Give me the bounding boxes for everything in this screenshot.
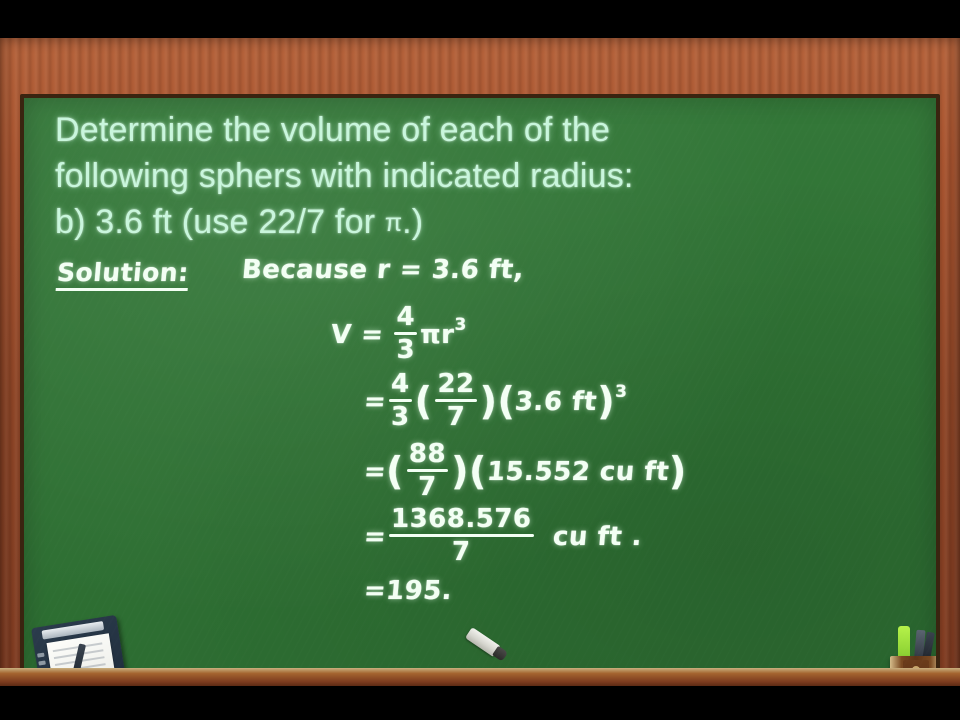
final-answer-partial: 195. xyxy=(385,576,454,606)
solution-given-line: Because r = 3.6 ft, xyxy=(242,255,524,285)
unit-label: cu ft . xyxy=(551,522,643,552)
question-line-3-part-b: .) xyxy=(402,203,423,241)
fraction-four-thirds: 43 xyxy=(389,371,412,430)
chalk-tray-ledge xyxy=(0,668,960,686)
letterbox-bottom-bar xyxy=(0,686,960,720)
radius-value: 3.6 ft xyxy=(514,387,598,417)
solution-step-2: =43(227)(3.6 ft)3 xyxy=(364,373,627,432)
chalkboard-surface: Determine the volume of each of the foll… xyxy=(24,98,936,706)
exponent-three: 3 xyxy=(454,315,466,335)
question-line-3: b) 3.6 ft (use 22/7 for π.) xyxy=(55,199,895,248)
pi-symbol-icon: π xyxy=(385,209,402,237)
solution-label: Solution: xyxy=(57,258,189,291)
fraction-result: 1368.5767 xyxy=(389,506,534,565)
solution-step-3: =(887)(15.552 cu ft) xyxy=(364,443,687,502)
question-line-1: Determine the volume of each of the xyxy=(55,107,895,153)
fraction-eightyeight-sevenths: 887 xyxy=(407,441,448,500)
formula-lhs: V = xyxy=(330,320,385,350)
solution-formula-line: V =43πr3 xyxy=(331,306,467,365)
radius-symbol: r xyxy=(441,320,454,350)
cubed-radius-value: 15.552 cu ft xyxy=(486,457,671,487)
exponent-three: 3 xyxy=(615,382,627,402)
fraction-four-thirds: 43 xyxy=(394,304,417,363)
letterbox-top-bar xyxy=(0,0,960,38)
chalk-stick-cursor-icon xyxy=(462,625,510,666)
question-line-3-part-a: b) 3.6 ft (use 22/7 for xyxy=(55,203,385,241)
question-text-block: Determine the volume of each of the foll… xyxy=(55,107,895,248)
pi-symbol-icon: π xyxy=(420,320,441,350)
fraction-twentytwo-sevenths: 227 xyxy=(435,371,476,430)
question-line-2: following sphers with indicated radius: xyxy=(55,153,895,199)
chalkboard-wooden-frame: Determine the volume of each of the foll… xyxy=(0,38,960,686)
screenshot-stage: Determine the volume of each of the foll… xyxy=(0,0,960,720)
solution-step-5: =195. xyxy=(364,576,452,606)
solution-step-4: =1368.5767cu ft . xyxy=(364,508,642,567)
